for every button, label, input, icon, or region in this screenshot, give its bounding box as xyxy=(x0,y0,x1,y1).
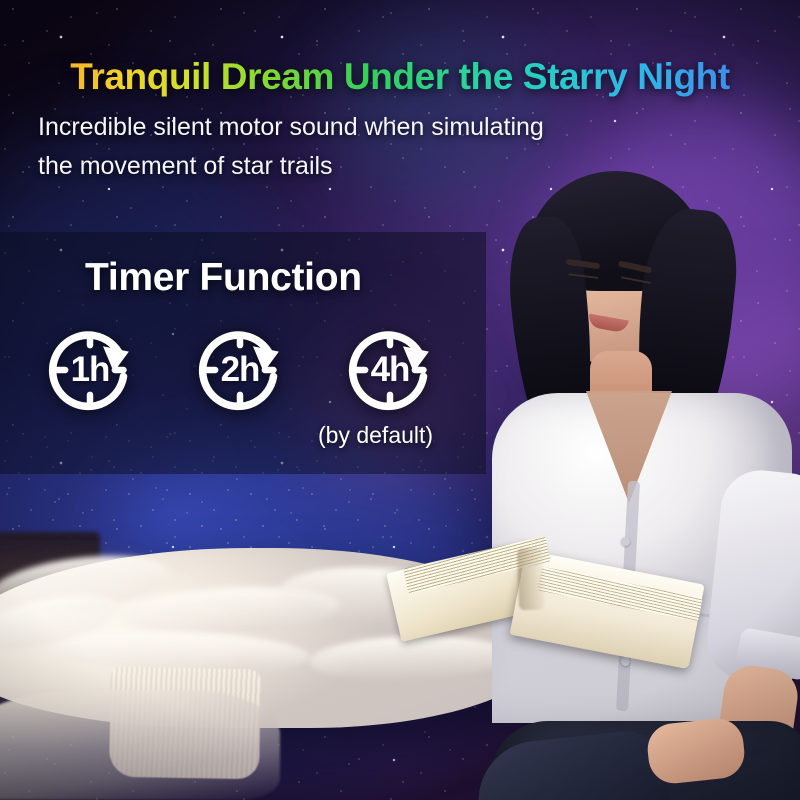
timer-default-note: (by default) xyxy=(318,422,433,449)
timer-options-row: 1h 2h 4h xyxy=(36,316,476,428)
subtitle-line-1: Incredible silent motor sound when simul… xyxy=(38,108,698,147)
product-marketing-image: Tranquil Dream Under the Starry Night In… xyxy=(0,0,800,800)
timer-label-1h: 1h xyxy=(36,316,144,424)
timer-option-4h[interactable]: 4h xyxy=(336,316,444,424)
timer-label-2h: 2h xyxy=(186,316,294,424)
timer-panel-title: Timer Function xyxy=(85,256,362,300)
timer-label-4h: 4h xyxy=(336,316,444,424)
timer-option-2h[interactable]: 2h xyxy=(186,316,294,424)
timer-option-1h[interactable]: 1h xyxy=(36,316,144,424)
page-headline: Tranquil Dream Under the Starry Night xyxy=(0,56,800,98)
subtitle-line-2: the movement of star trails xyxy=(38,147,698,186)
page-subtitle: Incredible silent motor sound when simul… xyxy=(38,108,698,186)
